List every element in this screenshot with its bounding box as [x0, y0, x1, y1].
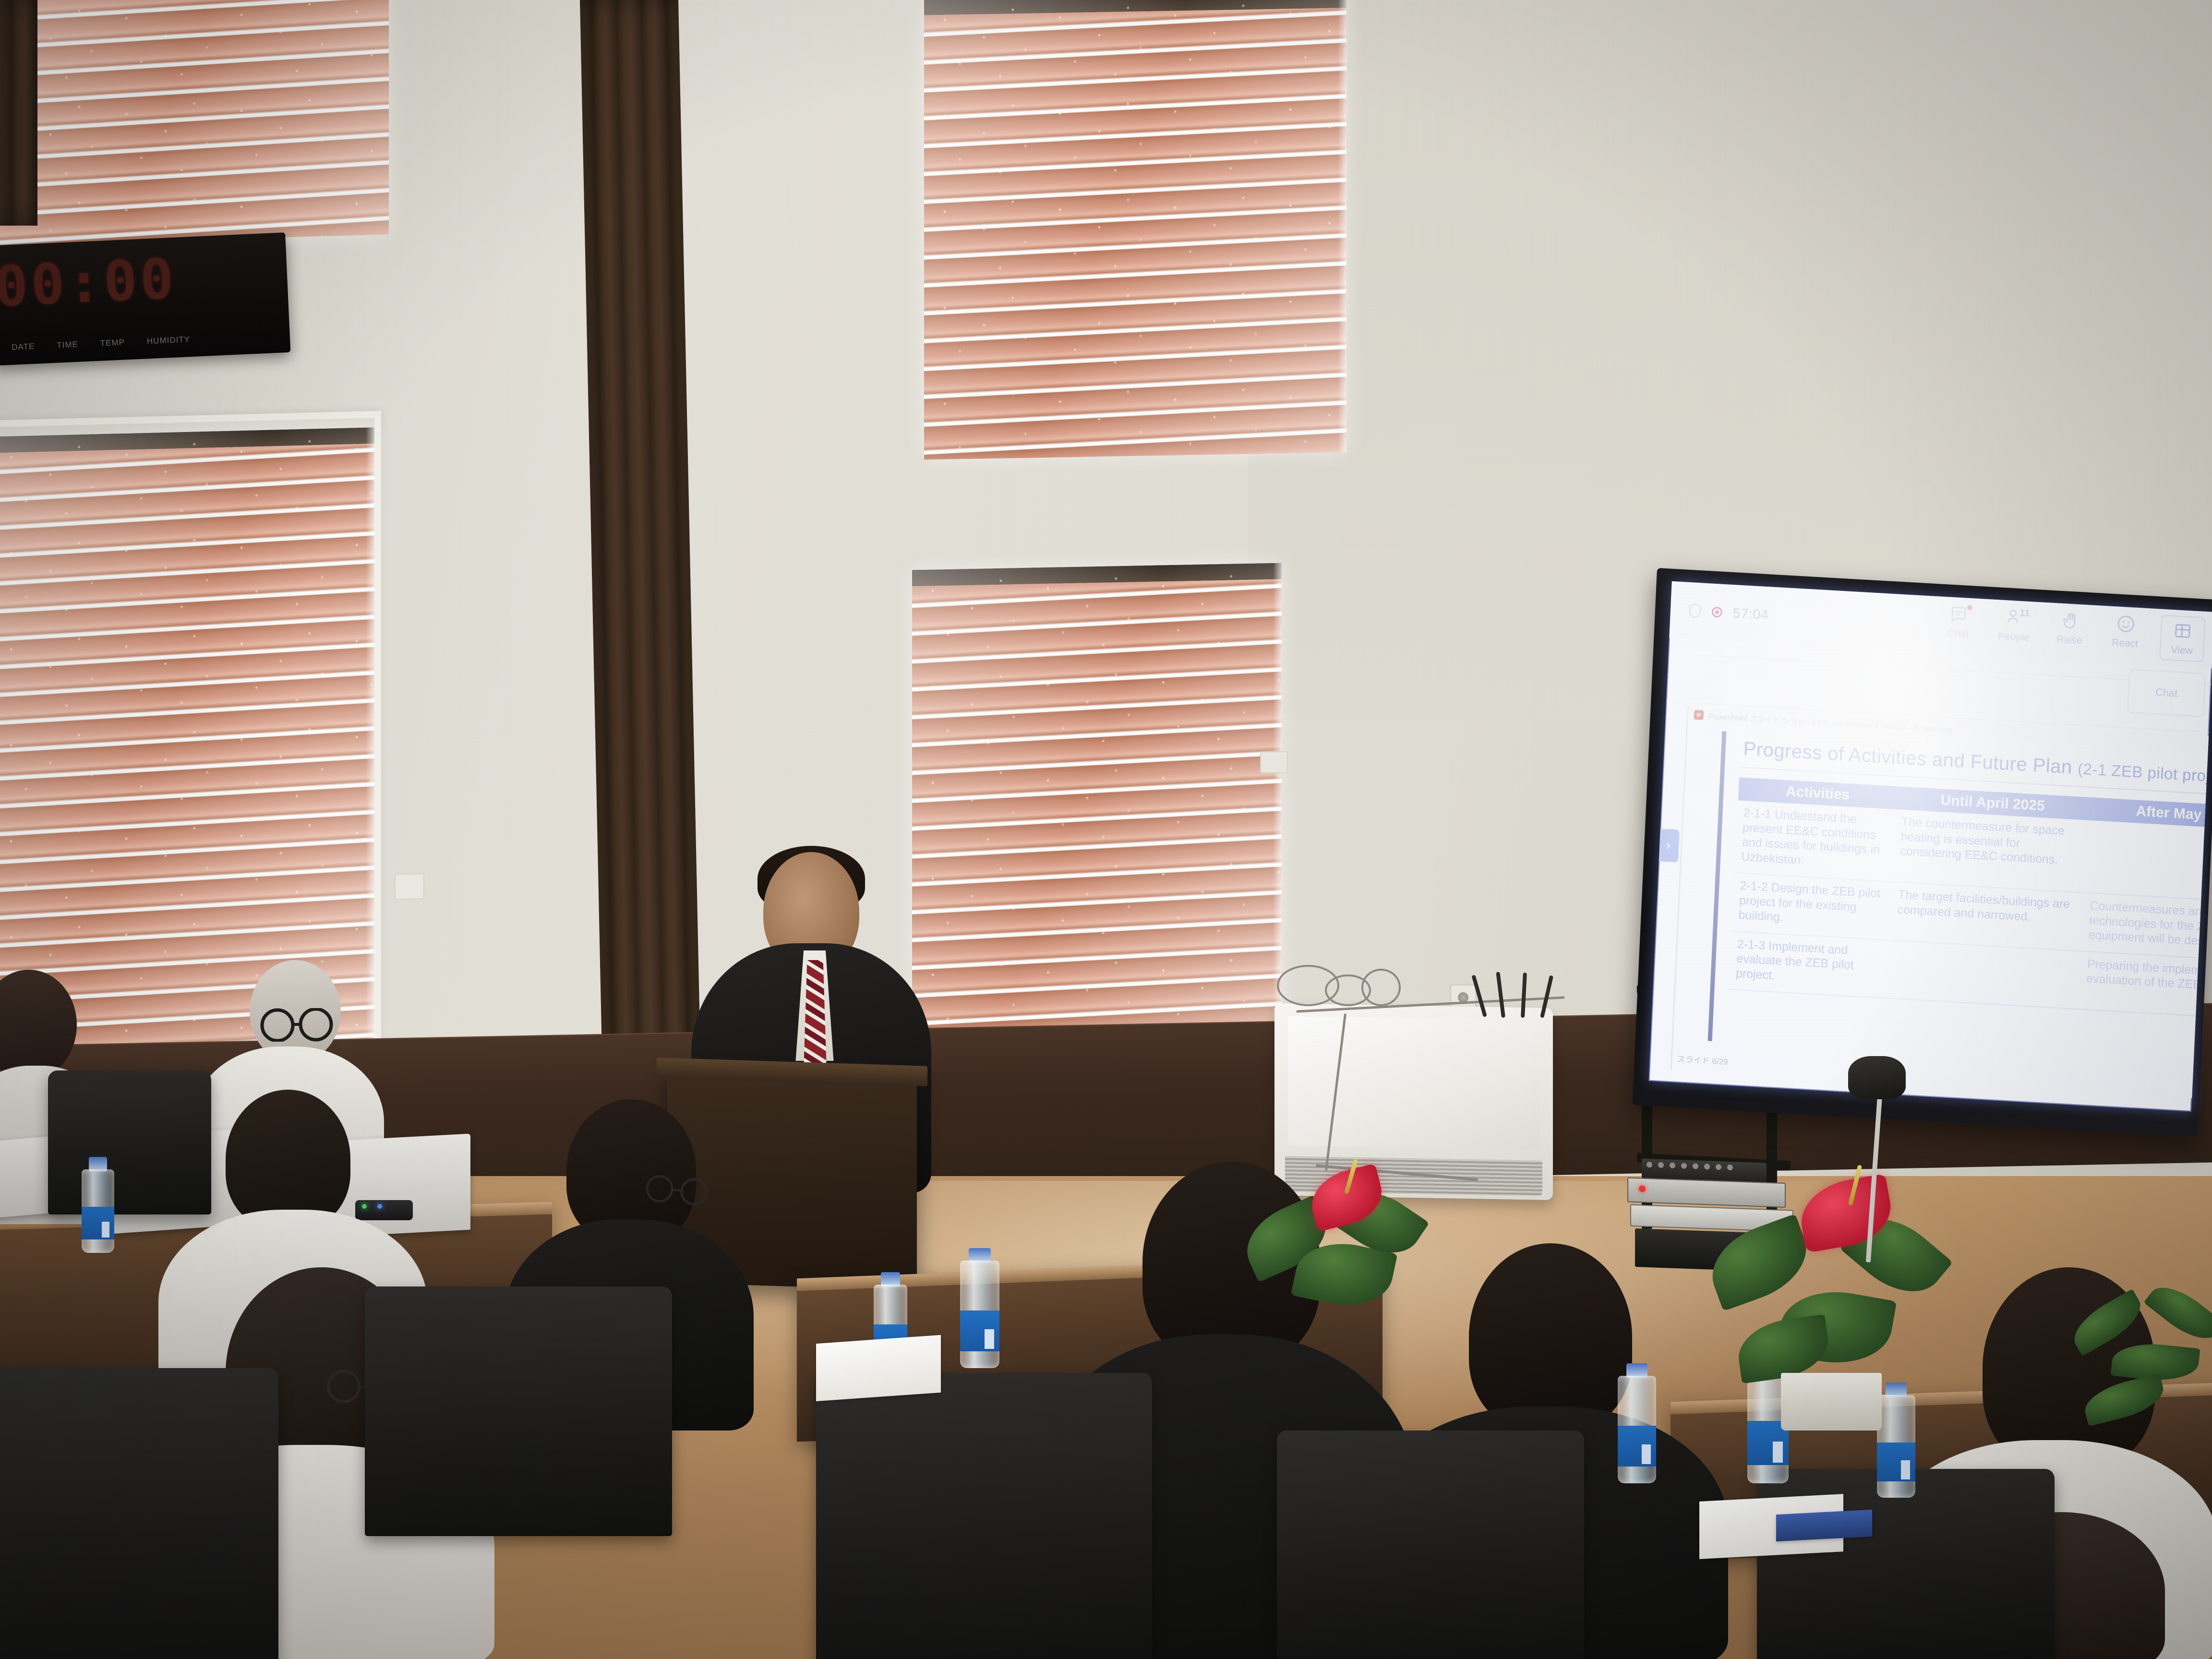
clock-label-time: TIME — [57, 340, 78, 350]
clock-time: 00:00 — [0, 246, 178, 319]
status-led-blue — [377, 1204, 382, 1209]
conference-chair-5[interactable] — [1277, 1431, 1584, 1659]
bottle-label — [1618, 1426, 1656, 1467]
slide-title-suffix: (2-1 ZEB pilot project) — [2077, 759, 2212, 786]
anthurium-plant-left — [1238, 1166, 1440, 1358]
teams-view-label: View — [2163, 644, 2201, 658]
react-smiley-icon — [2105, 612, 2147, 636]
cell-activity: 2-1-3 Implement and evaluate the ZEB pil… — [1730, 931, 1890, 998]
conference-chair-1[interactable] — [48, 1070, 211, 1214]
tangled-cable-loop-3 — [1361, 969, 1401, 1006]
usb-hub-device[interactable] — [355, 1200, 413, 1220]
blind-backlight — [0, 0, 389, 246]
teams-action-group: Chat 11 People — [1937, 602, 2212, 662]
attendee-head-right-suit — [1469, 1243, 1632, 1431]
av-power-led — [1639, 1185, 1646, 1192]
chat-icon — [1938, 602, 1980, 626]
cell-after-may: Preparing the implementation and evaluat… — [2079, 951, 2212, 1021]
slide-canvas: Progress of Activities and Future Plan (… — [1672, 722, 2212, 1100]
mixer-knob[interactable] — [1704, 1164, 1710, 1169]
foliage-plant-far-right — [2069, 1286, 2212, 1445]
bottle-label — [82, 1207, 114, 1239]
slide-title-main: Progress of Activities and Future Plan — [1743, 738, 2073, 778]
cell-activity: 2-1-2 Design the ZEB pilot project for t… — [1732, 873, 1893, 940]
cell-until-april — [1887, 940, 2082, 1009]
screen-surface[interactable]: 57:04 Chat — [1649, 581, 2212, 1112]
teams-view-button[interactable]: View — [2159, 615, 2205, 662]
teams-react-label: React — [2104, 637, 2146, 650]
clock-label-humidity: HUMIDITY — [146, 335, 190, 346]
water-bottle-3[interactable] — [1618, 1363, 1656, 1483]
anthurium-plant-right — [1709, 1171, 1959, 1421]
wall-display-screen[interactable]: 57:04 Chat — [1632, 568, 2212, 1137]
cell-until-april: The countermeasure for space heating is … — [1893, 809, 2088, 893]
people-count-badge: 11 — [2020, 608, 2030, 619]
cell-until-april: The target facilities/buildings are comp… — [1890, 882, 2085, 951]
chevron-right-icon[interactable]: › — [1657, 829, 1680, 862]
clock-label-date: DATE — [12, 342, 35, 352]
teams-left-group: 57:04 — [1670, 602, 1769, 623]
people-icon: 11 — [1994, 605, 2036, 630]
teams-chat-button[interactable]: Chat — [1937, 602, 1980, 641]
conference-chair-4[interactable] — [816, 1373, 1152, 1659]
teams-raise-hand-button[interactable]: Raise — [2048, 609, 2091, 648]
clock-label-row: DATE TIME TEMP HUMIDITY — [12, 331, 280, 352]
recording-timer: 57:04 — [1732, 605, 1769, 623]
teams-react-button[interactable]: React — [2104, 612, 2147, 650]
status-led-green — [362, 1204, 367, 1209]
microphone-icon — [1754, 1093, 1760, 1102]
cell-after-may — [2085, 820, 2212, 904]
raise-hand-icon — [2049, 609, 2092, 633]
mixer-knob[interactable] — [1670, 1163, 1675, 1168]
wood-column-left — [0, 0, 37, 226]
conference-chair-3[interactable] — [365, 1286, 672, 1536]
mixer-knob-row — [1647, 1162, 1733, 1170]
water-bottle-6[interactable] — [82, 1157, 114, 1253]
microphone-head — [1848, 1056, 1906, 1099]
blue-folder[interactable] — [1776, 1510, 1872, 1541]
display-bezel: 57:04 Chat — [1632, 568, 2212, 1137]
powerpoint-logo-icon: P — [1694, 710, 1704, 720]
conference-room-scene: 00:00 DATE TIME TEMP HUMIDITY — [0, 0, 2212, 1659]
glasses-icon — [254, 1008, 341, 1042]
blind-backlight — [924, 0, 1346, 460]
mixer-knob[interactable] — [1681, 1163, 1687, 1168]
clock-digits: 00:00 — [0, 240, 282, 321]
bottle-label — [960, 1310, 999, 1351]
plant-leaf — [2080, 1373, 2168, 1427]
paper-document-1[interactable] — [816, 1335, 941, 1401]
mixer-knob[interactable] — [1658, 1162, 1664, 1168]
digital-led-clock: 00:00 DATE TIME TEMP HUMIDITY — [0, 232, 290, 366]
view-grid-icon — [2163, 619, 2202, 643]
mixer-knob[interactable] — [1693, 1163, 1698, 1169]
teams-people-button[interactable]: 11 People — [1993, 605, 2036, 644]
conference-chair-2[interactable] — [0, 1368, 278, 1659]
plant-leaf — [1700, 1214, 1818, 1311]
teams-toolbar: 57:04 Chat — [1669, 581, 2212, 669]
cell-activity: 2-1-1 Understand the present EE&C condit… — [1735, 800, 1896, 882]
window-edge-light — [1338, 0, 1346, 453]
clock-label-temp: TEMP — [100, 337, 125, 348]
wall-switch-plate-right[interactable] — [1260, 751, 1288, 773]
shield-icon — [1688, 603, 1701, 619]
window-edge-light — [366, 427, 374, 1080]
attendee-head-center-left — [226, 1090, 350, 1229]
slide-counter: スライド 6/29 — [1677, 1052, 1728, 1067]
plant-pot — [1781, 1373, 1882, 1431]
mixer-knob[interactable] — [1647, 1162, 1652, 1167]
window-top-middle — [924, 0, 1346, 460]
window-top-left — [0, 0, 389, 246]
ac-front-panel — [1288, 1016, 1539, 1150]
teams-people-label: People — [1993, 630, 2035, 644]
recording-indicator-icon — [1711, 607, 1722, 618]
blind-backlight — [912, 563, 1282, 1094]
bottle-label — [1877, 1443, 1915, 1482]
powerpoint-window[interactable]: P PowerPoint スライド ショー - 03-2_KC Session … — [1671, 706, 2212, 1100]
window-middle-center — [912, 563, 1282, 1094]
mixer-knob[interactable] — [1727, 1165, 1733, 1170]
speaker-name: Misa HOSOYA — [1686, 1087, 1750, 1102]
teams-chat-panel[interactable]: Chat — [2127, 669, 2206, 717]
water-bottle-2[interactable] — [960, 1248, 999, 1368]
slide-accent-bar — [1708, 731, 1727, 1041]
wall-switch-plate-left[interactable] — [395, 873, 424, 900]
slide-table: Activities Until April 2025 After May 20… — [1730, 777, 2212, 1021]
speaker-name-badge: Misa HOSOYA — [1679, 1084, 1767, 1106]
mixer-knob[interactable] — [1716, 1164, 1721, 1170]
teams-chat-label: Chat — [1937, 627, 1979, 641]
plant-leaf — [2143, 1276, 2212, 1350]
teams-raise-label: Raise — [2048, 634, 2090, 648]
chat-unread-dot — [1967, 605, 1972, 611]
